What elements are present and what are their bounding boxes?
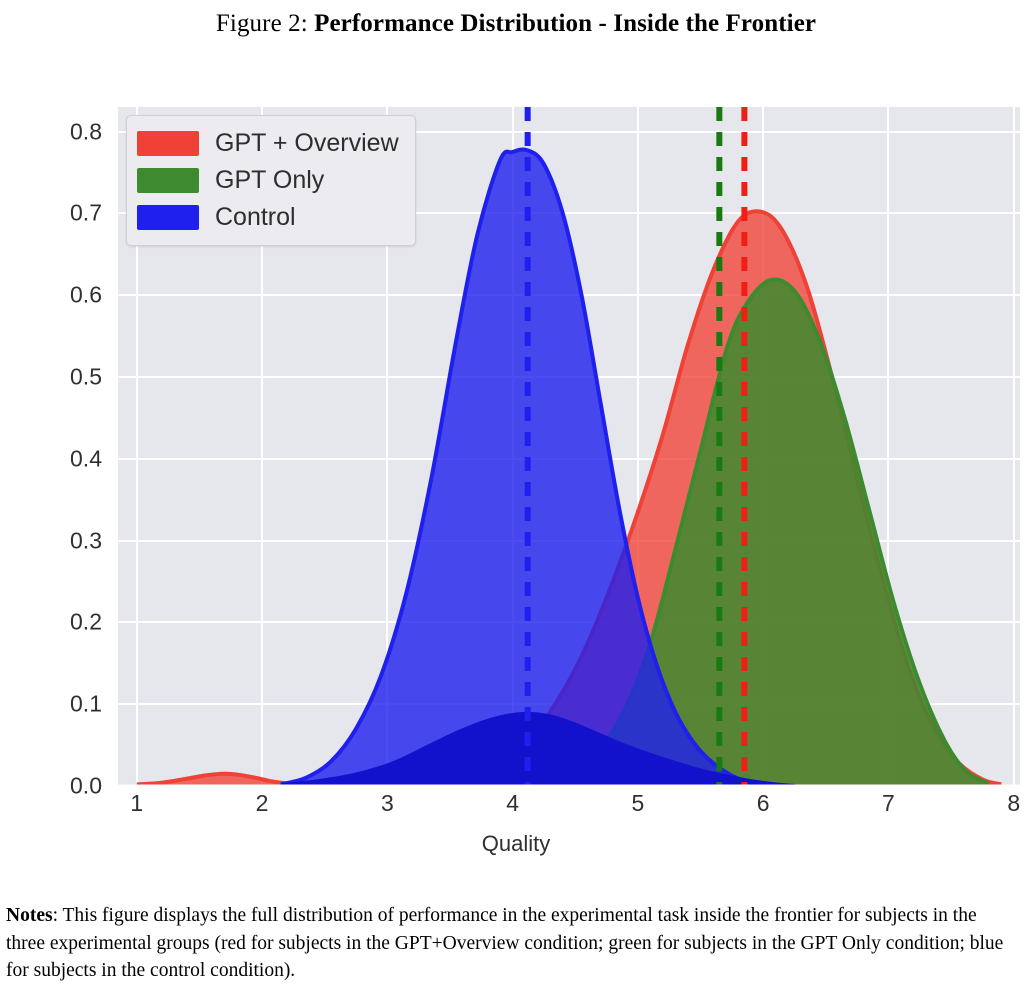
figure-title: Figure 2: Performance Distribution - Ins… (0, 10, 1032, 38)
legend-label: GPT + Overview (215, 129, 399, 158)
figure-container: Figure 2: Performance Distribution - Ins… (0, 0, 1032, 992)
legend-item[interactable]: Control (137, 199, 399, 236)
y-tick-label: 0.8 (42, 118, 102, 145)
notes-text: : This figure displays the full distribu… (6, 905, 1003, 981)
y-axis-ticks: 0.00.10.20.30.40.50.60.70.8 (40, 107, 102, 786)
figure-title-main: Performance Distribution - Inside the Fr… (314, 10, 816, 37)
x-tick-label: 2 (232, 790, 292, 817)
legend-item[interactable]: GPT + Overview (137, 125, 399, 162)
y-tick-label: 0.4 (42, 445, 102, 472)
figure-title-prefix: Figure 2: (216, 10, 314, 37)
y-tick-label: 0.6 (42, 282, 102, 309)
legend-label: GPT Only (215, 166, 324, 195)
x-tick-label: 1 (107, 790, 167, 817)
x-tick-label: 3 (357, 790, 417, 817)
legend-swatch (137, 205, 199, 230)
plot-area: GPT + OverviewGPT OnlyControl (118, 107, 1020, 786)
y-tick-label: 0.1 (42, 691, 102, 718)
figure-notes: Notes: This figure displays the full dis… (6, 902, 1006, 985)
y-tick-label: 0.2 (42, 609, 102, 636)
x-axis-label: Quality (0, 831, 1032, 857)
x-tick-label: 4 (483, 790, 543, 817)
x-axis-ticks: 12345678 (118, 790, 1020, 824)
x-tick-label: 7 (858, 790, 918, 817)
legend-item[interactable]: GPT Only (137, 162, 399, 199)
x-tick-label: 5 (608, 790, 668, 817)
y-tick-label: 0.7 (42, 200, 102, 227)
legend-swatch (137, 131, 199, 156)
chart-legend: GPT + OverviewGPT OnlyControl (126, 115, 416, 246)
notes-lead: Notes (6, 905, 53, 926)
x-tick-label: 6 (733, 790, 793, 817)
y-tick-label: 0.5 (42, 363, 102, 390)
x-tick-label: 8 (984, 790, 1032, 817)
legend-label: Control (215, 203, 296, 232)
y-tick-label: 0.0 (42, 773, 102, 800)
legend-swatch (137, 168, 199, 193)
y-tick-label: 0.3 (42, 527, 102, 554)
